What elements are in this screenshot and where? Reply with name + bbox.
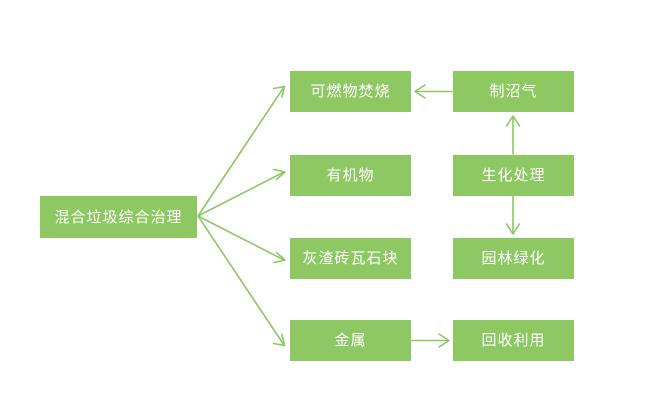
node-recycling-reuse[interactable]: 回收利用 [453, 320, 574, 361]
flowchart-canvas: 混合垃圾综合治理 可燃物焚烧 有机物 灰渣砖瓦石块 金属 制沼气 生化处理 园林… [0, 0, 648, 416]
edge-biochem-to-biogas [507, 116, 520, 154]
node-metal[interactable]: 金属 [290, 320, 411, 361]
edge-root-to-organic [198, 170, 285, 217]
node-biochemical-treatment[interactable]: 生化处理 [453, 155, 574, 196]
node-mixed-waste-treatment[interactable]: 混合垃圾综合治理 [40, 196, 197, 238]
edge-biochem-to-landscaping [507, 195, 520, 234]
node-organic-matter[interactable]: 有机物 [290, 155, 411, 196]
node-label: 生化处理 [481, 168, 545, 183]
edge-root-to-combustible [198, 87, 285, 217]
node-biogas-production[interactable]: 制沼气 [453, 71, 574, 112]
node-label: 灰渣砖瓦石块 [302, 251, 398, 266]
node-label: 金属 [334, 333, 366, 348]
node-label: 可燃物焚烧 [310, 84, 390, 99]
node-label: 园林绿化 [481, 251, 545, 266]
node-label: 回收利用 [481, 333, 545, 348]
node-label: 有机物 [326, 168, 374, 183]
node-combustible-incineration[interactable]: 可燃物焚烧 [290, 71, 411, 112]
edge-biogas-to-combustible [415, 85, 452, 98]
node-label: 制沼气 [489, 84, 537, 99]
edge-root-to-metal [198, 216, 285, 346]
edge-metal-to-recycle [412, 334, 449, 347]
node-landscaping[interactable]: 园林绿化 [453, 238, 574, 279]
node-ash-brick-stone[interactable]: 灰渣砖瓦石块 [290, 238, 411, 279]
edge-root-to-ash-brick [198, 216, 285, 263]
node-label: 混合垃圾综合治理 [54, 210, 182, 225]
